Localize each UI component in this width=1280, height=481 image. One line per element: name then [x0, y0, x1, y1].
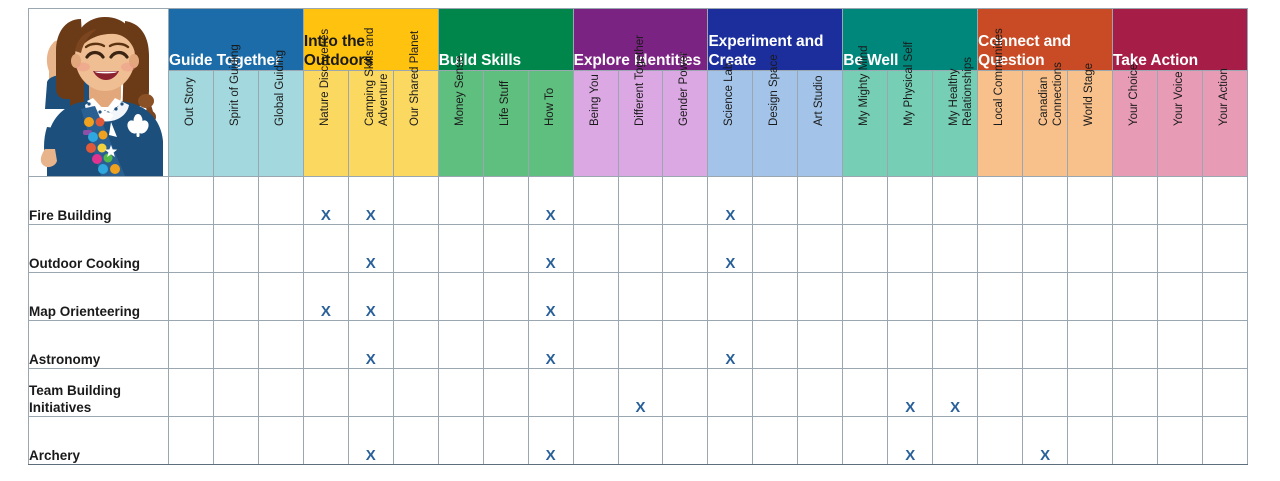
cell-empty[interactable] [1113, 321, 1158, 369]
cell-empty[interactable] [303, 369, 348, 417]
cell-empty[interactable] [348, 369, 393, 417]
cell-empty[interactable] [1113, 273, 1158, 321]
cell-empty[interactable] [618, 225, 663, 273]
col-header-camping-skills-and-adventure: Camping Skills and Adventure [348, 71, 393, 177]
skill-builder-matrix-page: Guide Together Intro the Outdoors Build … [0, 0, 1280, 481]
cell-empty[interactable] [663, 225, 708, 273]
cell-marked[interactable]: X [708, 321, 753, 369]
cell-empty[interactable] [438, 417, 483, 465]
cell-empty[interactable] [213, 321, 258, 369]
cell-empty[interactable] [169, 369, 214, 417]
cell-empty[interactable] [573, 177, 618, 225]
col-header-our-shared-planet: Our Shared Planet [393, 71, 438, 177]
cell-empty[interactable] [1068, 369, 1113, 417]
cell-empty[interactable] [753, 417, 798, 465]
col-header-canadian-connections: Canadian Connections [1023, 71, 1068, 177]
cell-empty[interactable] [1157, 321, 1202, 369]
cell-empty[interactable] [978, 417, 1023, 465]
col-header-your-choice: Your Choice [1113, 71, 1158, 177]
cell-empty[interactable] [483, 177, 528, 225]
cell-empty[interactable] [663, 177, 708, 225]
cell-empty[interactable] [258, 273, 303, 321]
cell-marked[interactable]: X [708, 177, 753, 225]
matrix-header: Guide Together Intro the Outdoors Build … [29, 9, 1248, 177]
cell-empty[interactable] [798, 321, 843, 369]
cell-empty[interactable] [1023, 225, 1068, 273]
cell-empty[interactable] [573, 369, 618, 417]
cell-empty[interactable] [1157, 369, 1202, 417]
col-header-gender-power: Gender Power [663, 71, 708, 177]
cell-empty[interactable] [618, 177, 663, 225]
cell-empty[interactable] [933, 225, 978, 273]
cell-empty[interactable] [798, 177, 843, 225]
cell-empty[interactable] [1068, 225, 1113, 273]
cell-marked[interactable]: X [528, 321, 573, 369]
cell-empty[interactable] [303, 417, 348, 465]
cell-empty[interactable] [753, 369, 798, 417]
cell-empty[interactable] [798, 225, 843, 273]
cell-empty[interactable] [888, 273, 933, 321]
cell-empty[interactable] [753, 273, 798, 321]
cell-empty[interactable] [483, 369, 528, 417]
cell-empty[interactable] [573, 225, 618, 273]
cell-empty[interactable] [483, 321, 528, 369]
cell-empty[interactable] [978, 225, 1023, 273]
row-label: Outdoor Cooking [29, 225, 169, 273]
cell-empty[interactable] [1157, 417, 1202, 465]
cell-marked[interactable]: X [348, 321, 393, 369]
cell-empty[interactable] [169, 273, 214, 321]
cell-empty[interactable] [1023, 177, 1068, 225]
cell-empty[interactable] [483, 225, 528, 273]
cell-empty[interactable] [169, 225, 214, 273]
cell-empty[interactable] [483, 417, 528, 465]
table-row: Outdoor CookingXXX [29, 225, 1248, 273]
cell-empty[interactable] [753, 225, 798, 273]
col-header-world-stage: World Stage [1068, 71, 1113, 177]
cell-empty[interactable] [258, 417, 303, 465]
cell-marked[interactable]: X [348, 273, 393, 321]
col-header-nature-discoveries: Nature Discoveries [303, 71, 348, 177]
cell-empty[interactable] [888, 225, 933, 273]
row-label: Team Building Initiatives [29, 369, 169, 417]
cell-empty[interactable] [708, 417, 753, 465]
cell-empty[interactable] [978, 273, 1023, 321]
cell-empty[interactable] [303, 321, 348, 369]
cell-empty[interactable] [843, 225, 888, 273]
cell-marked[interactable]: X [528, 417, 573, 465]
cell-empty[interactable] [213, 369, 258, 417]
cell-empty[interactable] [843, 273, 888, 321]
col-header-how-to: How To [528, 71, 573, 177]
cell-empty[interactable] [663, 369, 708, 417]
cell-empty[interactable] [258, 321, 303, 369]
cell-empty[interactable] [438, 273, 483, 321]
col-header-different-together: Different Together [618, 71, 663, 177]
table-row: Team Building InitiativesXXX [29, 369, 1248, 417]
cell-empty[interactable] [1202, 273, 1247, 321]
cell-marked[interactable]: X [348, 417, 393, 465]
cell-empty[interactable] [258, 177, 303, 225]
cell-empty[interactable] [1068, 273, 1113, 321]
cell-empty[interactable] [303, 225, 348, 273]
cell-empty[interactable] [258, 369, 303, 417]
illustration-cell [29, 9, 169, 177]
cell-empty[interactable] [933, 417, 978, 465]
cell-empty[interactable] [438, 225, 483, 273]
cell-marked[interactable]: X [348, 177, 393, 225]
cell-empty[interactable] [528, 369, 573, 417]
cell-empty[interactable] [169, 321, 214, 369]
cell-empty[interactable] [1157, 273, 1202, 321]
cell-empty[interactable] [843, 321, 888, 369]
cell-empty[interactable] [213, 417, 258, 465]
cell-empty[interactable] [843, 417, 888, 465]
cell-empty[interactable] [258, 225, 303, 273]
cell-empty[interactable] [1113, 177, 1158, 225]
cell-empty[interactable] [618, 417, 663, 465]
cell-empty[interactable] [843, 177, 888, 225]
cell-empty[interactable] [1157, 177, 1202, 225]
col-header-money-sense: Money Sense [438, 71, 483, 177]
cell-marked[interactable]: X [888, 369, 933, 417]
cell-empty[interactable] [933, 321, 978, 369]
cell-marked[interactable]: X [348, 225, 393, 273]
cell-empty[interactable] [798, 369, 843, 417]
cell-empty[interactable] [933, 177, 978, 225]
cell-empty[interactable] [1068, 177, 1113, 225]
cell-empty[interactable] [213, 177, 258, 225]
col-header-your-voice: Your Voice [1157, 71, 1202, 177]
col-header-my-healthy-relationships: My Healthy Relationships [933, 71, 978, 177]
column-header-row: Out Story Spirit of Guiding Global Guidi… [29, 71, 1248, 177]
cell-empty[interactable] [573, 417, 618, 465]
col-header-being-you: Being You [573, 71, 618, 177]
cell-empty[interactable] [798, 273, 843, 321]
cell-empty[interactable] [483, 273, 528, 321]
cell-empty[interactable] [1202, 369, 1247, 417]
cell-empty[interactable] [1068, 417, 1113, 465]
col-header-local-communities: Local Communities [978, 71, 1023, 177]
col-header-life-stuff: Life Stuff [483, 71, 528, 177]
col-header-design-space: Design Space [753, 71, 798, 177]
cell-empty[interactable] [978, 321, 1023, 369]
cell-empty[interactable] [618, 321, 663, 369]
cell-empty[interactable] [888, 321, 933, 369]
cell-empty[interactable] [888, 177, 933, 225]
cell-marked[interactable]: X [888, 417, 933, 465]
cell-empty[interactable] [393, 225, 438, 273]
cell-empty[interactable] [708, 369, 753, 417]
cell-empty[interactable] [213, 273, 258, 321]
cell-empty[interactable] [663, 417, 708, 465]
cell-empty[interactable] [1202, 417, 1247, 465]
cell-empty[interactable] [1157, 225, 1202, 273]
cell-marked[interactable]: X [528, 225, 573, 273]
col-header-global-guiding: Global Guiding [258, 71, 303, 177]
cell-marked[interactable]: X [303, 177, 348, 225]
cell-empty[interactable] [393, 417, 438, 465]
row-label: Archery [29, 417, 169, 465]
col-header-spirit-of-guiding: Spirit of Guiding [213, 71, 258, 177]
col-header-art-studio: Art Studio [798, 71, 843, 177]
cell-empty[interactable] [753, 177, 798, 225]
cell-empty[interactable] [169, 177, 214, 225]
cell-marked[interactable]: X [528, 273, 573, 321]
cell-empty[interactable] [1023, 321, 1068, 369]
girl-guide-salute-icon [29, 9, 168, 176]
row-label: Astronomy [29, 321, 169, 369]
cell-empty[interactable] [1023, 369, 1068, 417]
cell-marked[interactable]: X [708, 225, 753, 273]
col-header-science-lab: Science Lab [708, 71, 753, 177]
cell-empty[interactable] [169, 417, 214, 465]
cell-empty[interactable] [393, 177, 438, 225]
cell-empty[interactable] [1202, 321, 1247, 369]
cell-empty[interactable] [1113, 417, 1158, 465]
table-row: Fire BuildingXXXX [29, 177, 1248, 225]
cell-marked[interactable]: X [303, 273, 348, 321]
cell-empty[interactable] [843, 369, 888, 417]
table-row: AstronomyXXX [29, 321, 1248, 369]
cell-empty[interactable] [978, 177, 1023, 225]
cell-marked[interactable]: X [528, 177, 573, 225]
program-matrix-table: Guide Together Intro the Outdoors Build … [28, 8, 1248, 465]
cell-empty[interactable] [573, 321, 618, 369]
cell-empty[interactable] [438, 321, 483, 369]
cell-empty[interactable] [618, 273, 663, 321]
col-header-my-mighty-mind: My Mighty Mind [843, 71, 888, 177]
cell-empty[interactable] [1113, 369, 1158, 417]
cell-empty[interactable] [708, 273, 753, 321]
table-row: Map OrienteeringXXX [29, 273, 1248, 321]
matrix-body: Fire BuildingXXXXOutdoor CookingXXXMap O… [29, 177, 1248, 465]
cell-empty[interactable] [1113, 225, 1158, 273]
cell-empty[interactable] [798, 417, 843, 465]
row-label: Map Orienteering [29, 273, 169, 321]
cell-empty[interactable] [438, 369, 483, 417]
cell-empty[interactable] [393, 369, 438, 417]
row-label: Fire Building [29, 177, 169, 225]
cell-empty[interactable] [573, 273, 618, 321]
cell-empty[interactable] [1202, 177, 1247, 225]
cell-empty[interactable] [438, 177, 483, 225]
cell-empty[interactable] [213, 225, 258, 273]
cell-empty[interactable] [978, 369, 1023, 417]
cell-empty[interactable] [663, 321, 708, 369]
cell-empty[interactable] [1068, 321, 1113, 369]
cell-marked[interactable]: X [1023, 417, 1068, 465]
col-header-out-story: Out Story [169, 71, 214, 177]
cell-empty[interactable] [663, 273, 708, 321]
col-header-my-physical-self: My Physical Self [888, 71, 933, 177]
col-header-your-action: Your Action [1202, 71, 1247, 177]
cell-empty[interactable] [393, 273, 438, 321]
cell-empty[interactable] [933, 273, 978, 321]
cell-empty[interactable] [393, 321, 438, 369]
cell-empty[interactable] [1023, 273, 1068, 321]
cell-empty[interactable] [1202, 225, 1247, 273]
cell-marked[interactable]: X [933, 369, 978, 417]
cell-marked[interactable]: X [618, 369, 663, 417]
table-row: ArcheryXXXX [29, 417, 1248, 465]
cell-empty[interactable] [753, 321, 798, 369]
